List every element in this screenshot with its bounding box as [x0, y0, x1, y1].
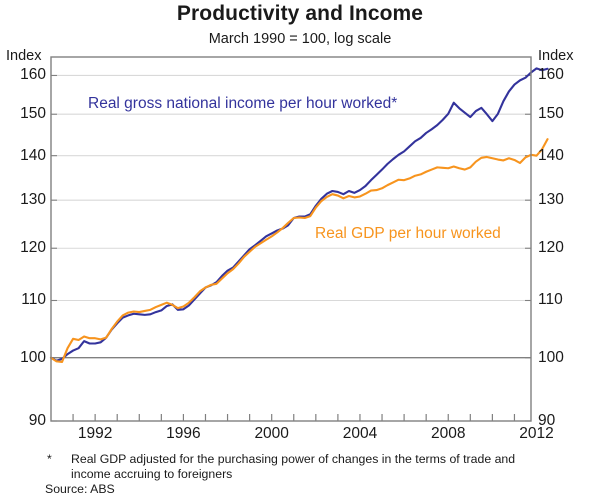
plot-area: [0, 0, 600, 498]
x-tick-label-1996: 1996: [148, 426, 218, 442]
y-tick-label-left-160: 160: [2, 67, 46, 83]
x-tick-label-2000: 2000: [237, 426, 307, 442]
source-text: Source: ABS: [45, 482, 515, 497]
y-tick-label-left-130: 130: [2, 192, 46, 208]
y-tick-label-right-160: 160: [538, 67, 582, 83]
y-tick-label-right-140: 140: [538, 148, 582, 164]
series-label-gdp: Real GDP per hour worked: [315, 226, 501, 242]
footnote-marker: *: [47, 452, 52, 466]
series-label-gni: Real gross national income per hour work…: [88, 96, 397, 112]
footnote-text: Real GDP adjusted for the purchasing pow…: [71, 452, 541, 483]
x-tick-label-2004: 2004: [325, 426, 395, 442]
y-tick-label-left-120: 120: [2, 240, 46, 256]
y-tick-label-right-120: 120: [538, 240, 582, 256]
y-tick-label-right-110: 110: [538, 292, 582, 308]
chart-container: Productivity and Income March 1990 = 100…: [0, 0, 600, 498]
x-tick-label-1992: 1992: [60, 426, 130, 442]
y-tick-label-left-90: 90: [2, 413, 46, 429]
y-tick-label-left-140: 140: [2, 148, 46, 164]
y-tick-label-right-100: 100: [538, 350, 582, 366]
y-tick-label-left-110: 110: [2, 292, 46, 308]
y-tick-label-right-150: 150: [538, 106, 582, 122]
x-tick-label-2008: 2008: [413, 426, 483, 442]
y-tick-label-right-130: 130: [538, 192, 582, 208]
x-tick-label-2012: 2012: [502, 426, 572, 442]
y-tick-label-left-100: 100: [2, 350, 46, 366]
y-tick-label-left-150: 150: [2, 106, 46, 122]
